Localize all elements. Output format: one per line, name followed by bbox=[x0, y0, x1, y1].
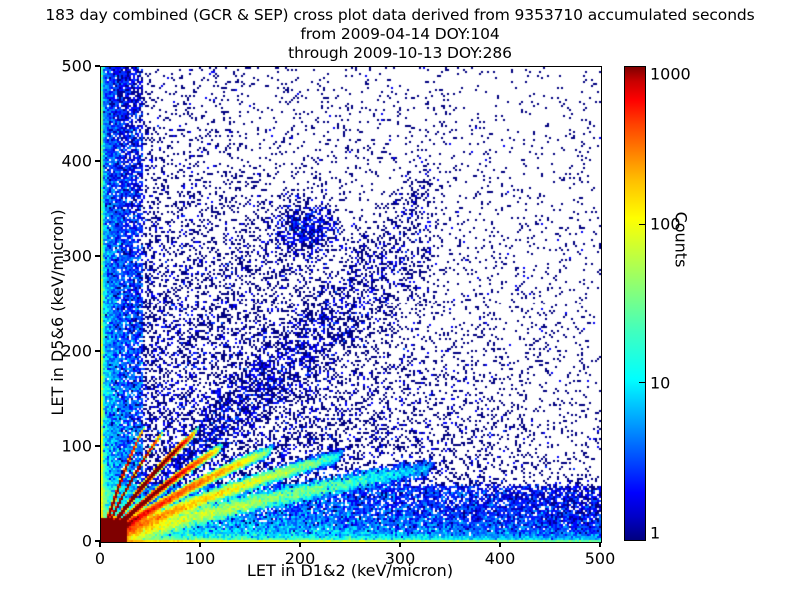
y-tick-mark bbox=[95, 255, 100, 256]
colorbar-tick-mark bbox=[639, 382, 646, 383]
x-tick-mark bbox=[199, 542, 200, 547]
x-tick-mark bbox=[99, 542, 100, 547]
plot-area bbox=[100, 66, 602, 543]
y-tick-mark bbox=[95, 65, 100, 66]
x-axis-label: LET in D1&2 (keV/micron) bbox=[100, 561, 600, 580]
chart-title-line-2: from 2009-04-14 DOY:104 bbox=[0, 25, 800, 44]
colorbar-tick-label: 10 bbox=[650, 373, 670, 392]
colorbar-tick-label: 1 bbox=[650, 524, 660, 543]
chart-title: 183 day combined (GCR & SEP) cross plot … bbox=[0, 6, 800, 63]
colorbar: 1101001000 bbox=[624, 66, 646, 541]
x-tick-mark bbox=[499, 542, 500, 547]
colorbar-label: Counts bbox=[672, 180, 691, 300]
y-tick-mark bbox=[95, 445, 100, 446]
y-axis-label: LET in D5&6 (keV/micron) bbox=[48, 75, 67, 550]
x-tick-mark bbox=[399, 542, 400, 547]
heatmap-canvas bbox=[101, 67, 601, 542]
colorbar-gradient bbox=[624, 66, 646, 541]
chart-title-line-3: through 2009-10-13 DOY:286 bbox=[0, 44, 800, 63]
x-tick-mark bbox=[599, 542, 600, 547]
chart-figure: 183 day combined (GCR & SEP) cross plot … bbox=[0, 0, 800, 600]
x-tick-mark bbox=[299, 542, 300, 547]
y-tick-mark bbox=[95, 160, 100, 161]
chart-title-line-1: 183 day combined (GCR & SEP) cross plot … bbox=[0, 6, 800, 25]
colorbar-tick-label: 1000 bbox=[650, 65, 691, 84]
colorbar-tick-mark bbox=[639, 224, 646, 225]
y-tick-mark bbox=[95, 350, 100, 351]
y-tick-label: 500 bbox=[8, 57, 92, 76]
